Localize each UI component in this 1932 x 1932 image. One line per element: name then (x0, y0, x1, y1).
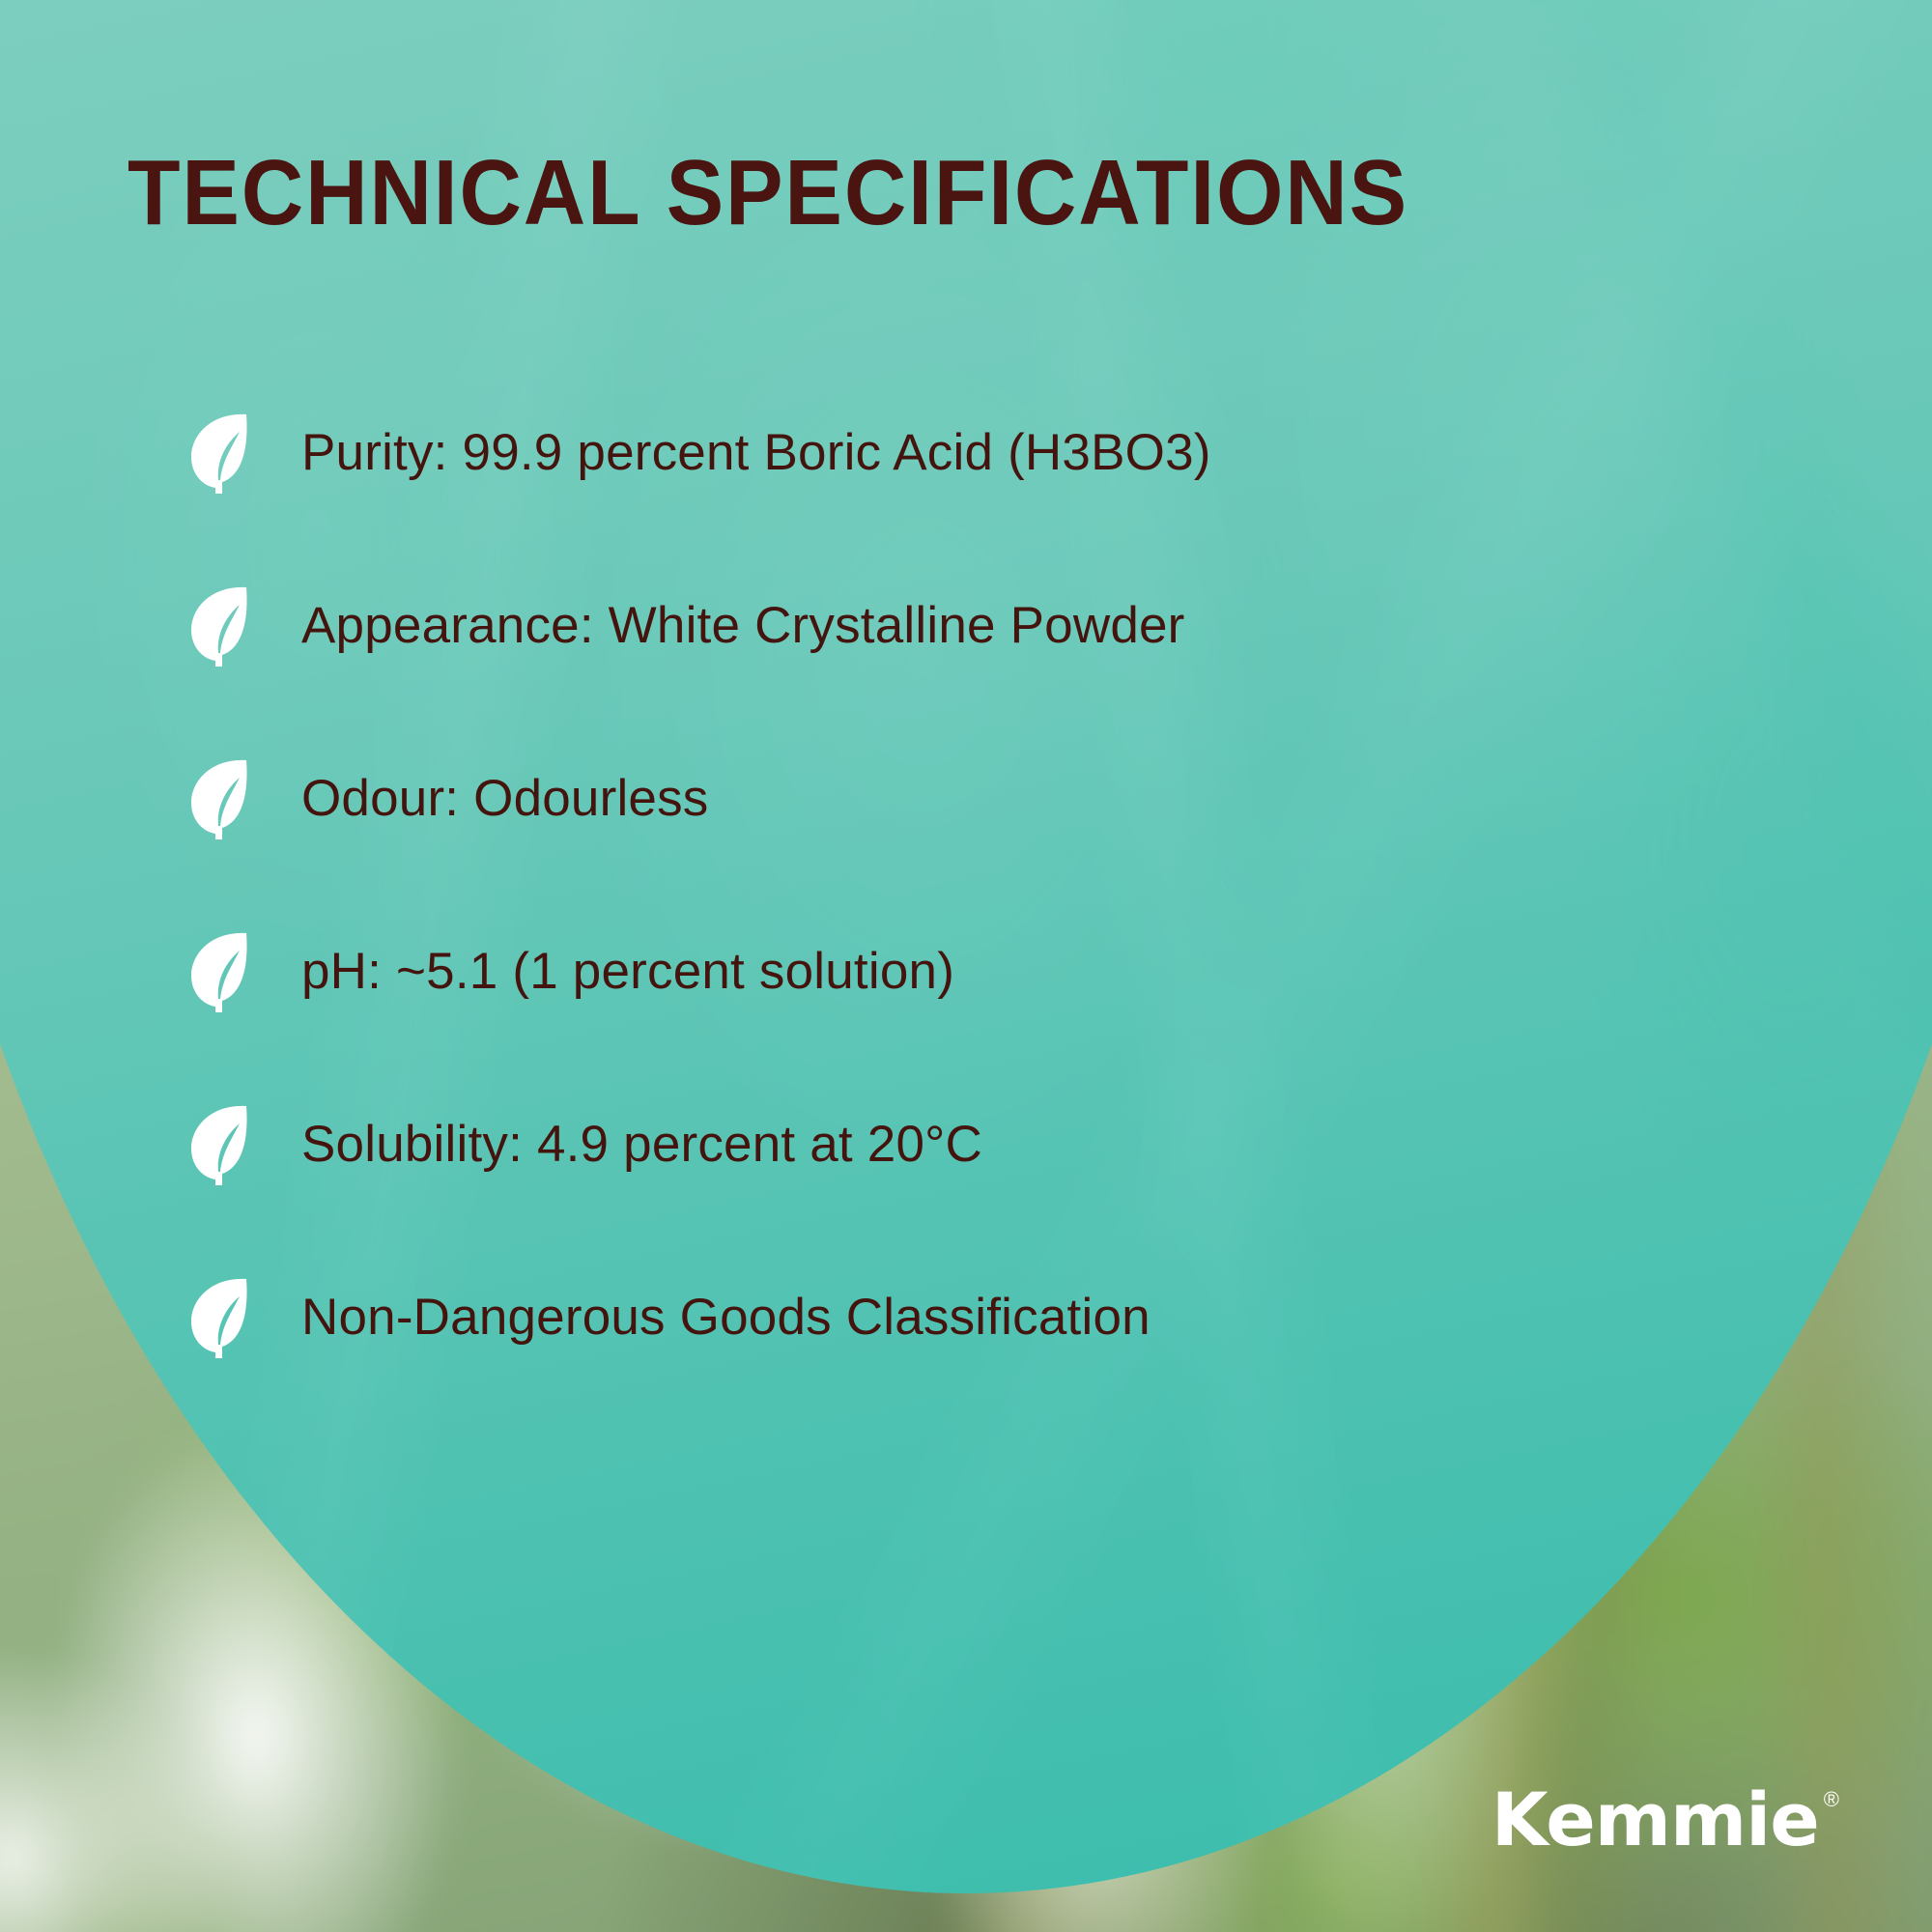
technical-specifications-poster: TECHNICAL SPECIFICATIONS Purity: 99.9 pe… (0, 0, 1932, 1932)
brand-name: Kemmie (1492, 1783, 1819, 1857)
leaf-icon (189, 929, 249, 1012)
leaf-icon (189, 1102, 249, 1185)
list-item: Appearance: White Crystalline Powder (189, 579, 1832, 671)
list-item: Non-Dangerous Goods Classification (189, 1270, 1832, 1363)
list-item: Solubility: 4.9 percent at 20°C (189, 1097, 1832, 1190)
list-item: Purity: 99.9 percent Boric Acid (H3BO3) (189, 406, 1832, 498)
poster-content: TECHNICAL SPECIFICATIONS Purity: 99.9 pe… (0, 0, 1932, 1932)
spec-text: pH: ~5.1 (1 percent solution) (301, 942, 954, 1001)
list-item: Odour: Odourless (189, 752, 1832, 844)
specifications-list: Purity: 99.9 percent Boric Acid (H3BO3) … (189, 406, 1832, 1363)
leaf-icon (189, 756, 249, 839)
spec-text: Odour: Odourless (301, 769, 709, 828)
registered-trademark-icon: ® (1824, 1789, 1839, 1810)
leaf-icon (189, 583, 249, 667)
spec-text: Non-Dangerous Goods Classification (301, 1288, 1151, 1347)
brand-logo: Kemmie ® (1492, 1783, 1839, 1857)
page-title: TECHNICAL SPECIFICATIONS (128, 147, 1408, 240)
leaf-icon (189, 411, 249, 494)
spec-text: Solubility: 4.9 percent at 20°C (301, 1115, 982, 1174)
spec-text: Purity: 99.9 percent Boric Acid (H3BO3) (301, 423, 1211, 482)
list-item: pH: ~5.1 (1 percent solution) (189, 924, 1832, 1017)
spec-text: Appearance: White Crystalline Powder (301, 596, 1185, 655)
leaf-icon (189, 1275, 249, 1358)
